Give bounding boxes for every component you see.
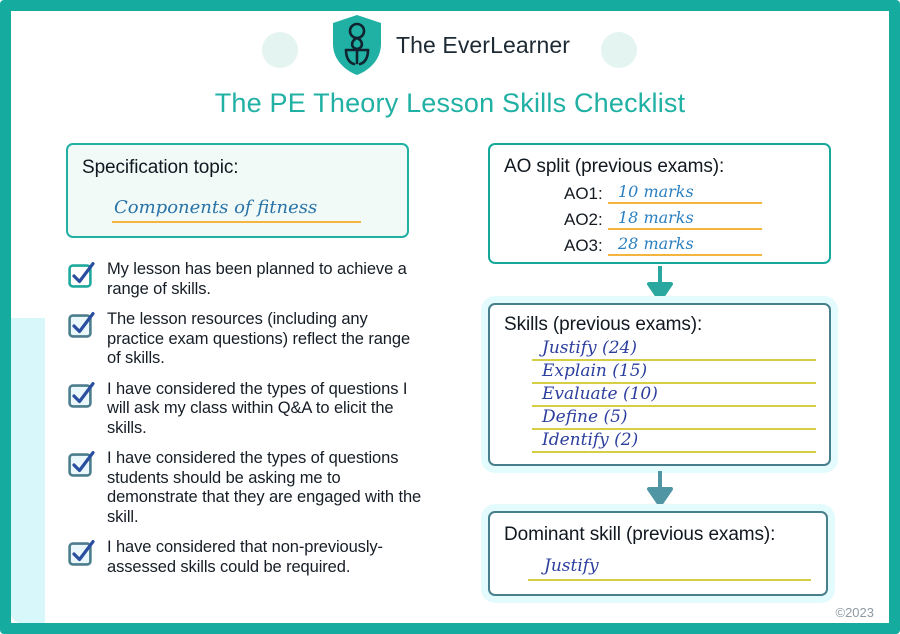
ao-value: 28 marks [618,234,694,253]
skill-row[interactable]: Identify (2) [532,430,816,453]
skill-row[interactable]: Evaluate (10) [532,384,816,407]
list-item[interactable]: My lesson has been planned to achieve a … [68,260,423,299]
checklist: My lesson has been planned to achieve a … [68,260,423,588]
list-item[interactable]: I have considered the types of questions… [68,380,423,439]
ao-row: AO3: 28 marks [564,233,829,256]
list-item-label: The lesson resources (including any prac… [107,310,423,369]
skills-label: Skills (previous exams): [504,314,829,336]
dominant-skill-value: Justify [544,556,599,576]
skill-value: Explain (15) [542,361,647,381]
specification-topic-card: Specification topic: Components of fitne… [66,143,409,238]
specification-topic-label: Specification topic: [82,157,407,179]
list-item[interactable]: The lesson resources (including any prac… [68,310,423,369]
ao-row: AO2: 18 marks [564,207,829,230]
ao-split-card: AO split (previous exams): AO1: 10 marks… [488,143,831,264]
decorative-left-band [11,318,45,623]
specification-topic-value[interactable]: Components of fitness [112,197,361,223]
ao-row: AO1: 10 marks [564,181,829,204]
list-item-label: I have considered that non-previously-as… [107,538,423,577]
list-item-label: My lesson has been planned to achieve a … [107,260,423,299]
ao-value: 10 marks [618,182,694,201]
skill-value: Justify (24) [542,338,637,358]
list-item-label: I have considered the types of questions… [107,449,423,527]
dominant-skill-label: Dominant skill (previous exams): [504,524,826,546]
ao-key: AO1: [564,184,608,204]
checkbox-checked-icon[interactable] [68,382,98,408]
skills-card: Skills (previous exams): Justify (24) Ex… [488,303,831,466]
ao-split-label: AO split (previous exams): [504,156,829,178]
ao-value: 18 marks [618,208,694,227]
skill-row[interactable]: Define (5) [532,407,816,430]
skill-row[interactable]: Justify (24) [532,338,816,361]
ao-key: AO3: [564,236,608,256]
ao-split-rows: AO1: 10 marks AO2: 18 marks AO3: 28 mark… [504,181,829,256]
shield-logo-icon [330,14,384,76]
brand-header: The EverLearner [0,14,900,76]
checkbox-checked-icon[interactable] [68,451,98,477]
skills-rows: Justify (24) Explain (15) Evaluate (10) … [504,338,829,453]
copyright-notice: ©2023 [836,605,875,620]
skill-value: Define (5) [542,407,628,427]
checkbox-checked-icon[interactable] [68,312,98,338]
skill-row[interactable]: Explain (15) [532,361,816,384]
ao-value-field[interactable]: 28 marks [608,233,762,256]
brand-name: The EverLearner [396,32,570,59]
arrow-down-icon [645,266,675,307]
page-title: The PE Theory Lesson Skills Checklist [0,88,900,119]
list-item[interactable]: I have considered the types of questions… [68,449,423,527]
checkbox-checked-icon[interactable] [68,262,98,288]
checkbox-checked-icon[interactable] [68,540,98,566]
ao-key: AO2: [564,210,608,230]
list-item[interactable]: I have considered that non-previously-as… [68,538,423,577]
skill-value: Evaluate (10) [542,384,658,404]
ao-value-field[interactable]: 18 marks [608,207,762,230]
arrow-down-icon [645,471,675,512]
ao-value-field[interactable]: 10 marks [608,181,762,204]
checklist-poster: The EverLearner The PE Theory Lesson Ski… [0,0,900,634]
dominant-skill-card: Dominant skill (previous exams): Justify [488,511,828,596]
dominant-skill-field[interactable]: Justify [528,556,811,581]
skill-value: Identify (2) [542,430,638,450]
list-item-label: I have considered the types of questions… [107,380,423,439]
